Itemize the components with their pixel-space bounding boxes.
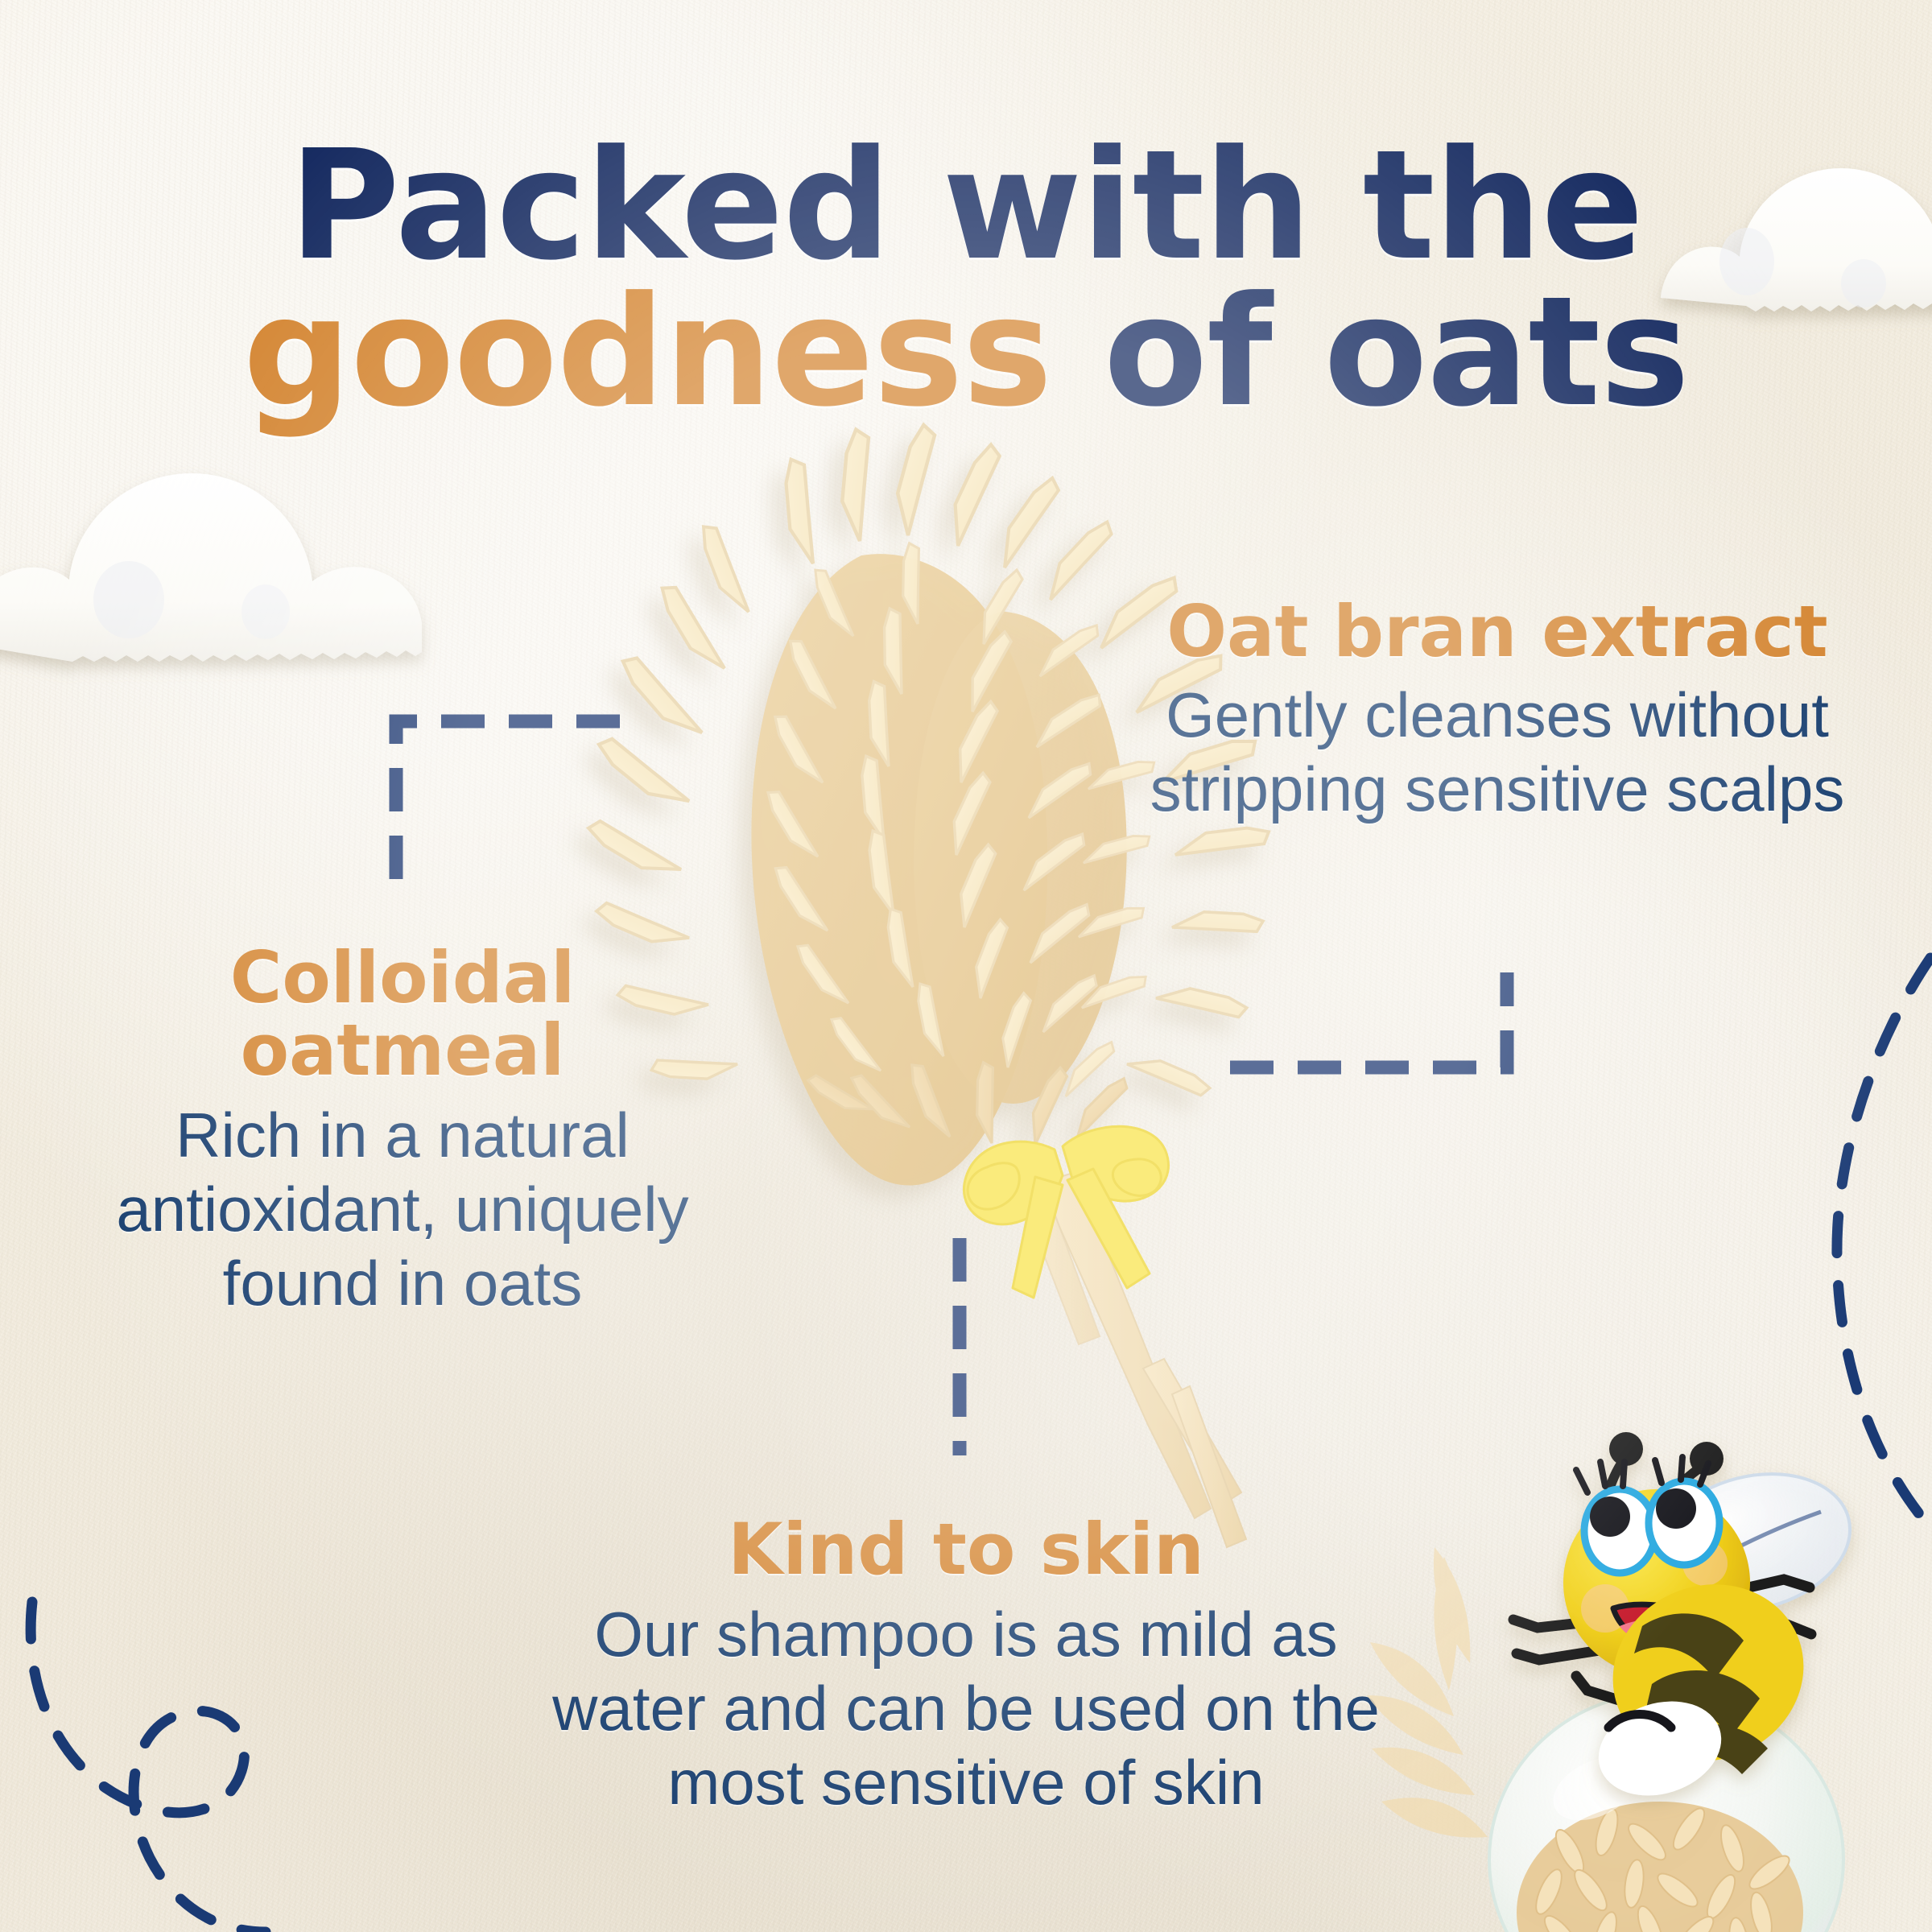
connector-oat-bran bbox=[1230, 972, 1507, 1067]
feature-colloidal-oatmeal: Colloidal oatmeal Rich in a natural anti… bbox=[64, 942, 741, 1320]
title-line-2: goodness of oats bbox=[0, 279, 1932, 426]
bee-eyelashes bbox=[1576, 1457, 1708, 1492]
page-title: Packed with the goodness of oats bbox=[0, 133, 1932, 427]
antenna-tip-right bbox=[1690, 1442, 1724, 1476]
feature-heading-colloidal-oatmeal: Colloidal oatmeal bbox=[64, 942, 741, 1087]
antenna-tip-left bbox=[1609, 1432, 1643, 1466]
bee-antennae bbox=[1603, 1459, 1702, 1546]
bee-body bbox=[1586, 1556, 1830, 1810]
bee-flight-path-right bbox=[1837, 958, 1932, 1529]
bubble-oat-grains bbox=[1517, 1802, 1803, 1932]
bee-flight-path-bottom-left bbox=[31, 1602, 266, 1932]
bee-mascot bbox=[1513, 1432, 1864, 1810]
feature-body-colloidal-oatmeal: Rich in a natural antioxidant, uniquely … bbox=[64, 1098, 741, 1320]
oat-filled-bubble bbox=[1489, 1692, 1843, 1932]
yellow-ribbon-bow bbox=[964, 1126, 1168, 1298]
bee-eyes bbox=[1584, 1481, 1719, 1573]
title-line-1: Packed with the bbox=[0, 133, 1932, 279]
wheat-stems bbox=[1022, 1172, 1246, 1547]
bee-mouth bbox=[1613, 1604, 1689, 1641]
feature-heading-oat-bran-extract: Oat bran extract bbox=[1123, 596, 1872, 668]
cloud-left bbox=[0, 473, 422, 662]
bee-cheek-right bbox=[1682, 1541, 1728, 1586]
bee-wing bbox=[1642, 1455, 1864, 1630]
title-word-of-oats: of oats bbox=[1051, 264, 1689, 440]
feature-heading-kind-to-skin: Kind to skin bbox=[515, 1513, 1417, 1586]
bee-tail-fluff bbox=[1587, 1686, 1734, 1811]
connector-colloidal bbox=[396, 721, 620, 903]
feature-kind-to-skin: Kind to skin Our shampoo is as mild as w… bbox=[515, 1513, 1417, 1819]
bee-legs bbox=[1513, 1579, 1811, 1708]
feature-oat-bran-extract: Oat bran extract Gently cleanses without… bbox=[1123, 596, 1872, 826]
bee-head bbox=[1563, 1489, 1750, 1676]
poster-canvas: Packed with the goodness of oats bbox=[0, 0, 1932, 1932]
title-word-goodness: goodness bbox=[243, 264, 1052, 440]
feature-body-oat-bran-extract: Gently cleanses without stripping sensit… bbox=[1123, 678, 1872, 826]
bee-cheek-left bbox=[1581, 1584, 1629, 1633]
feature-body-kind-to-skin: Our shampoo is as mild as water and can … bbox=[515, 1597, 1417, 1819]
